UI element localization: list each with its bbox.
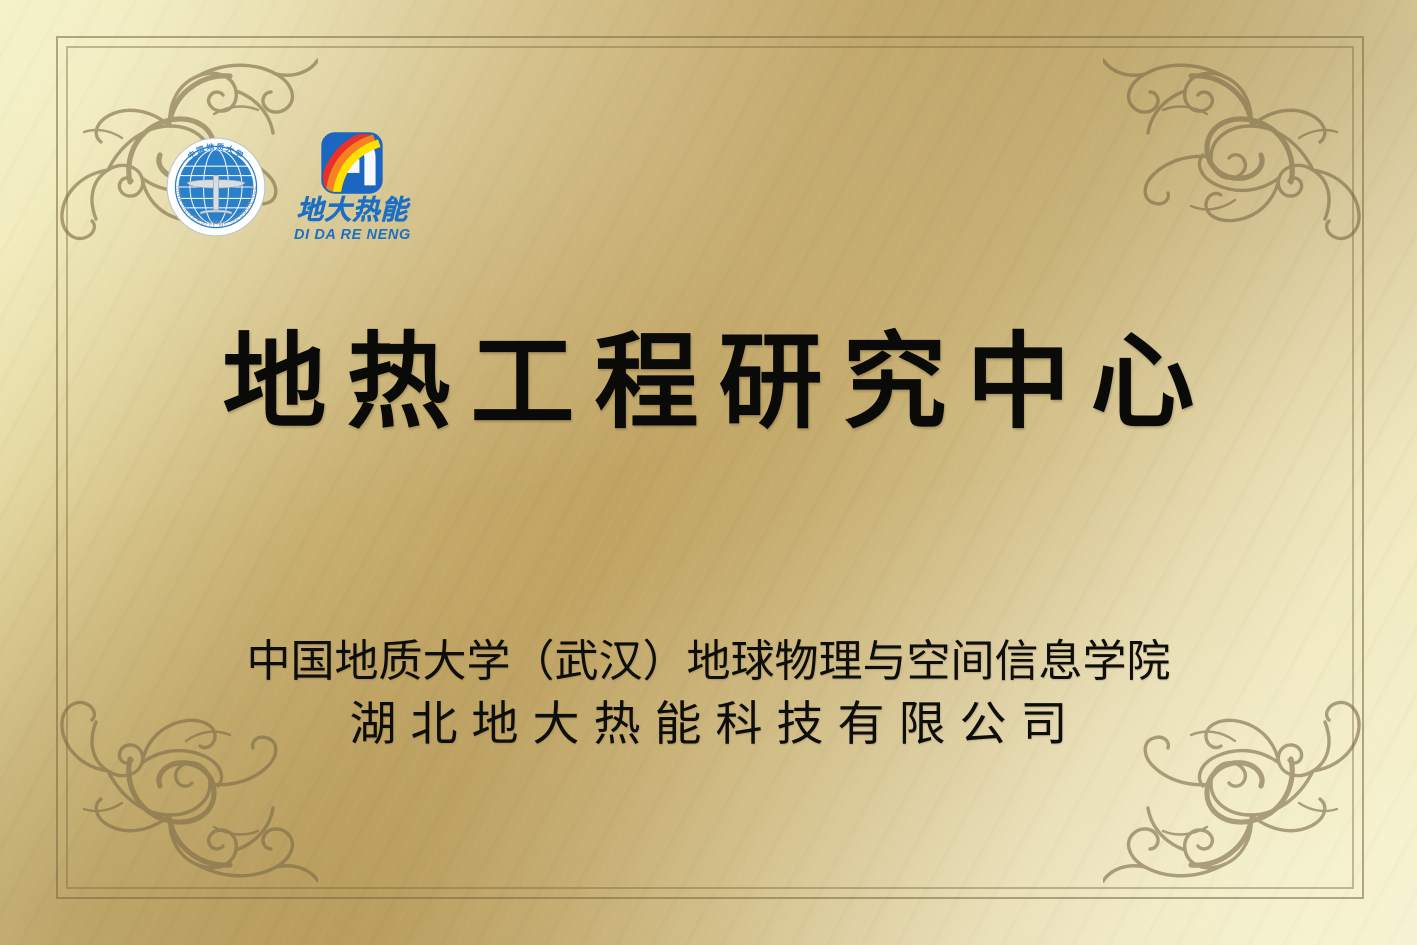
plaque-subtitle-group: 中国地质大学（武汉）地球物理与空间信息学院 湖北地大热能科技有限公司	[0, 636, 1417, 755]
svg-text:1952: 1952	[209, 221, 223, 227]
didareneng-mark-icon	[321, 132, 383, 194]
plaque-board: 中国地质大学 CHINA UNIVERSITY OF GEOSCIENCES 1…	[0, 0, 1417, 945]
company-name-cn: 地大热能	[296, 197, 408, 224]
logo-row: 中国地质大学 CHINA UNIVERSITY OF GEOSCIENCES 1…	[164, 132, 411, 243]
company-logo: 地大热能 DI DA RE NENG	[294, 132, 411, 243]
company-name-en: DI DA RE NENG	[294, 228, 411, 243]
corner-filigree-top-right-icon	[1103, 14, 1403, 264]
china-university-of-geosciences-emblem-icon: 中国地质大学 CHINA UNIVERSITY OF GEOSCIENCES 1…	[164, 135, 268, 239]
subtitle-line-company: 湖北地大热能科技有限公司	[0, 694, 1417, 755]
university-emblem: 中国地质大学 CHINA UNIVERSITY OF GEOSCIENCES 1…	[164, 135, 268, 239]
plaque-title: 地热工程研究中心	[0, 330, 1417, 434]
subtitle-line-university: 中国地质大学（武汉）地球物理与空间信息学院	[0, 636, 1417, 688]
